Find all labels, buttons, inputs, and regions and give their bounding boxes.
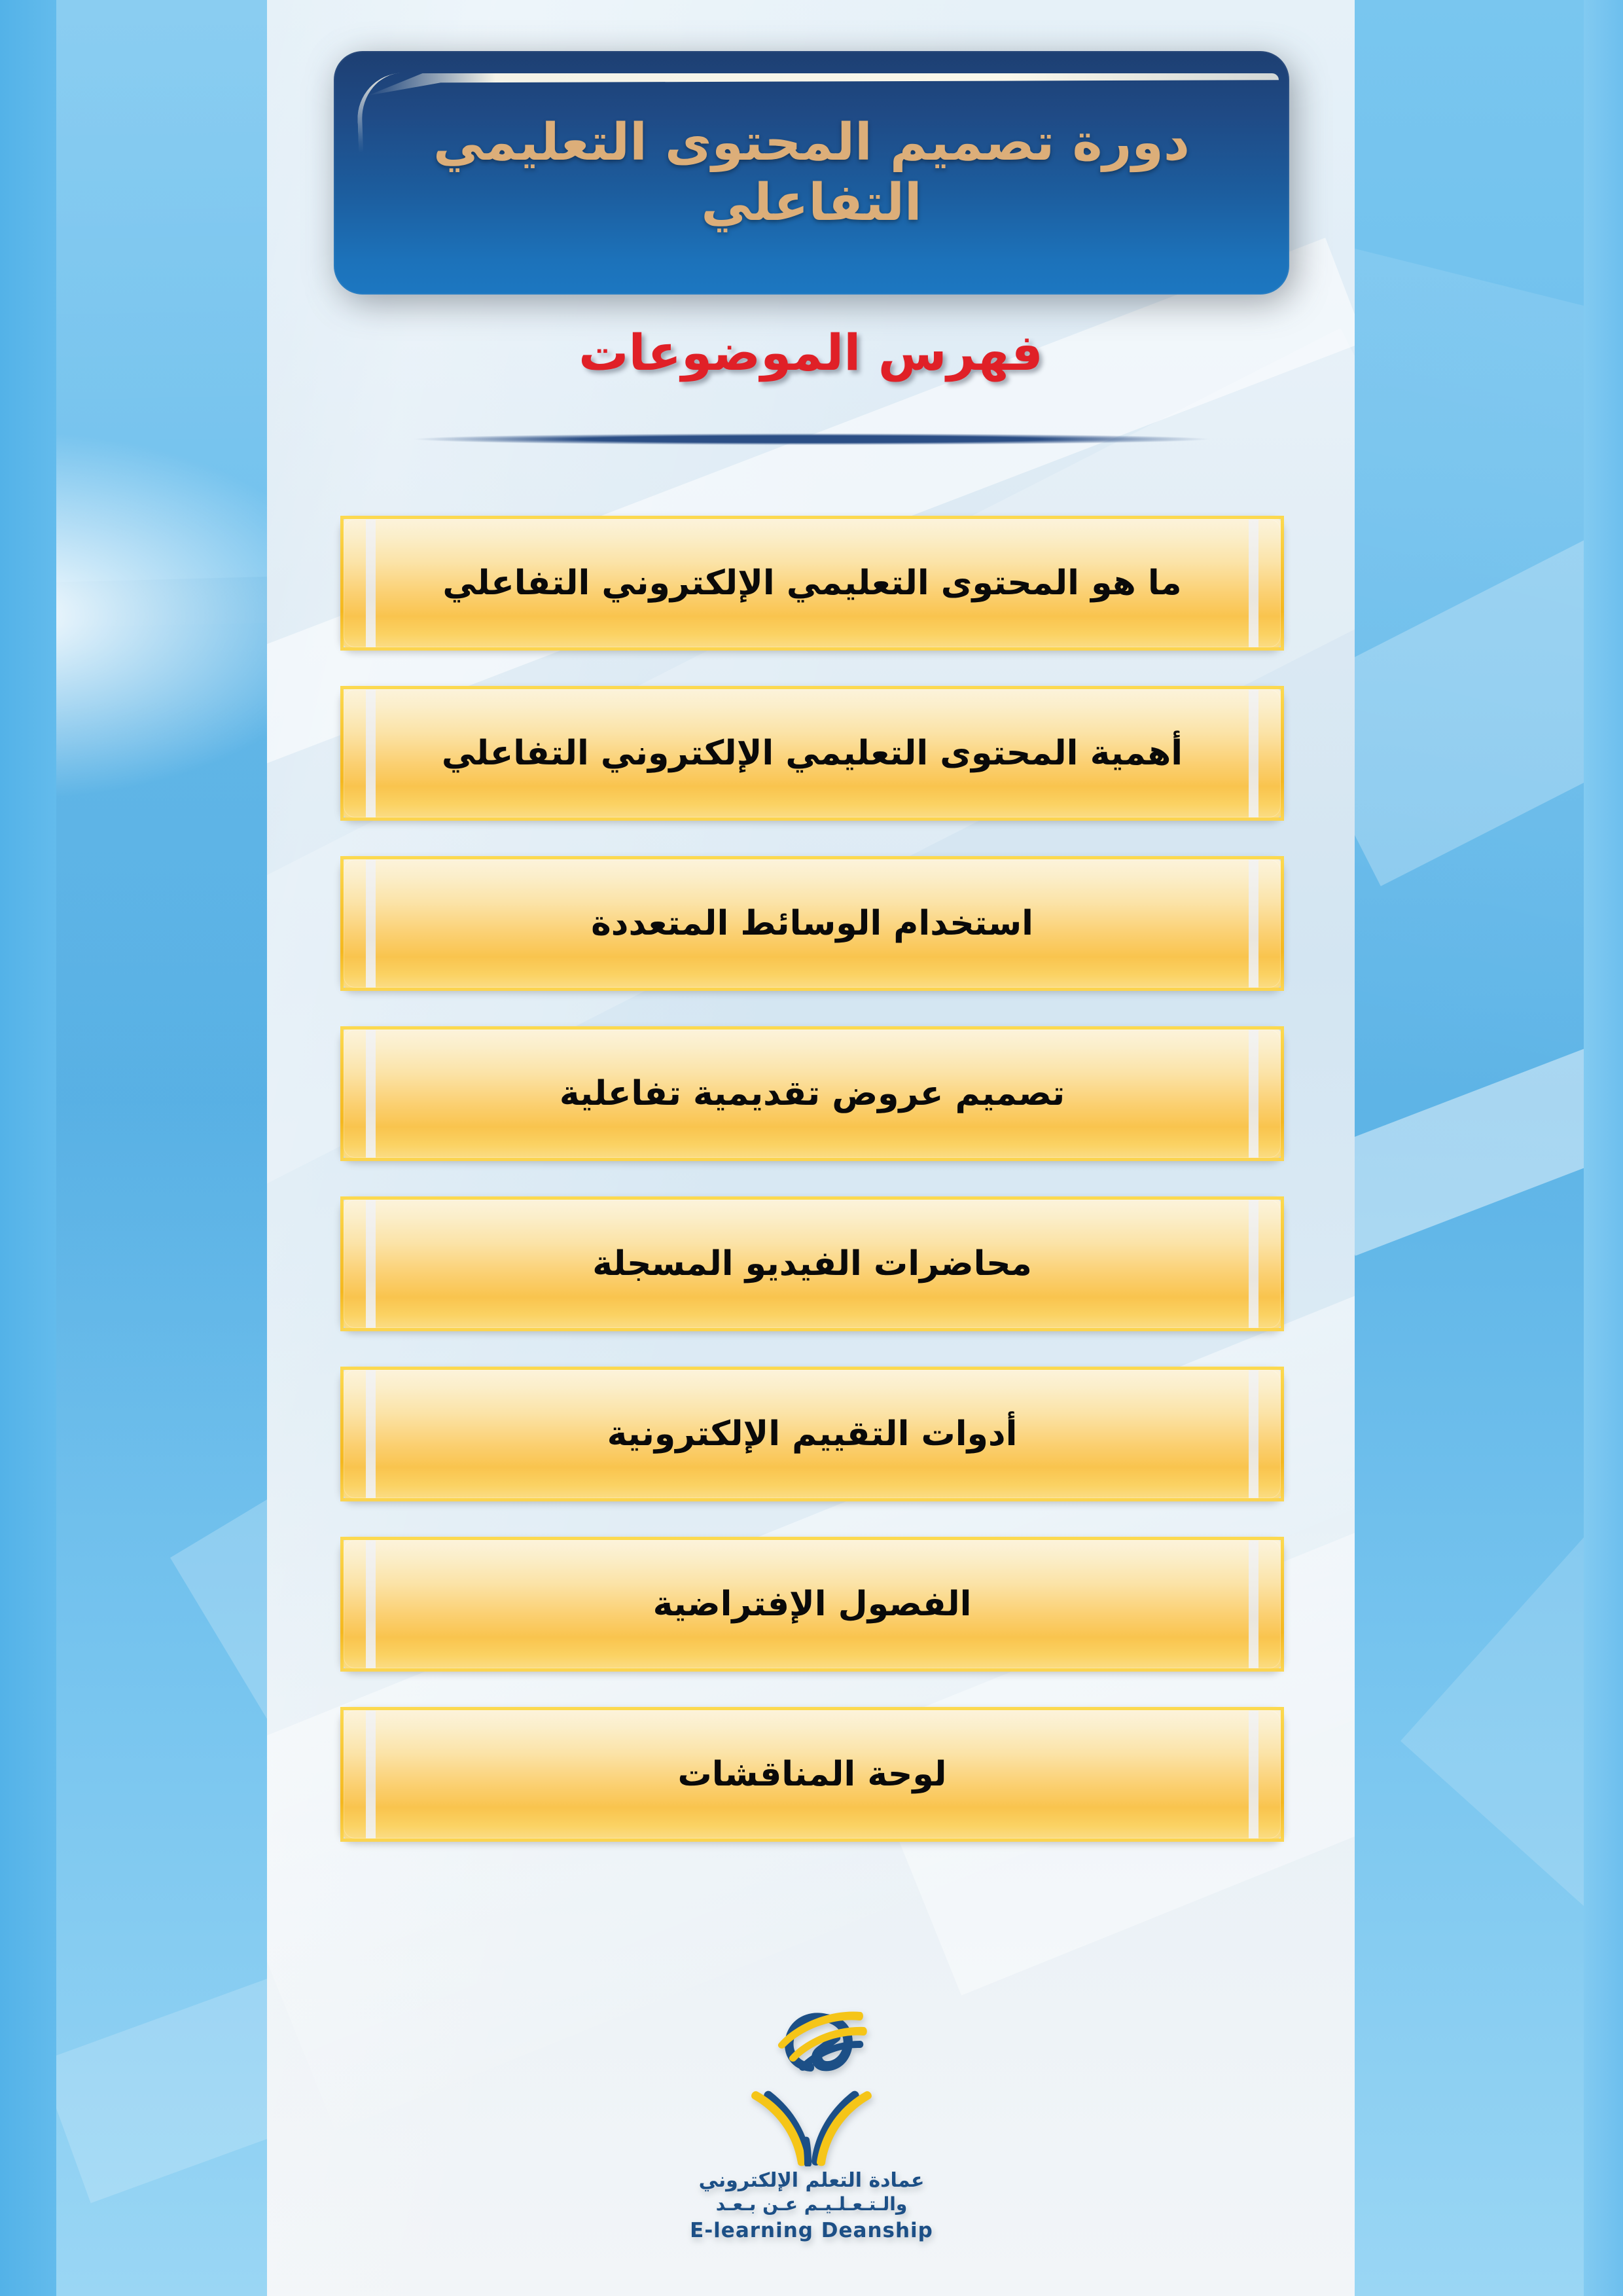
topic-card-label: أهمية المحتوى التعليمي الإلكتروني التفاع… — [383, 733, 1241, 774]
topic-card-label: محاضرات الفيديو المسجلة — [533, 1244, 1091, 1284]
topic-card-label: أدوات التقييم الإلكترونية — [548, 1414, 1077, 1454]
course-title-text: دورة تصميم المحتوى التعليمي التفاعلي — [334, 113, 1289, 233]
topic-card[interactable]: ما هو المحتوى التعليمي الإلكتروني التفاع… — [340, 516, 1284, 651]
course-title-banner: دورة تصميم المحتوى التعليمي التفاعلي — [334, 51, 1289, 295]
topic-card-label: تصميم عروض تقديمية تفاعلية — [501, 1073, 1124, 1114]
topic-card[interactable]: أدوات التقييم الإلكترونية — [340, 1367, 1284, 1501]
topic-card[interactable]: لوحة المناقشات — [340, 1707, 1284, 1842]
topic-card[interactable]: استخدام الوسائط المتعددة — [340, 856, 1284, 991]
banner-top-highlight — [368, 73, 1279, 96]
topics-list: ما هو المحتوى التعليمي الإلكتروني التفاع… — [340, 516, 1284, 1877]
topic-card[interactable]: محاضرات الفيديو المسجلة — [340, 1196, 1284, 1331]
topic-card[interactable]: تصميم عروض تقديمية تفاعلية — [340, 1026, 1284, 1161]
logo-english-name: E-learning Deanship — [690, 2219, 933, 2242]
title-divider — [414, 433, 1209, 445]
topic-card-label: الفصول الإفتراضية — [594, 1584, 1031, 1624]
page-title: فهرس الموضوعات — [267, 323, 1355, 382]
topic-card-label: لوحة المناقشات — [619, 1754, 1006, 1795]
banner-body: دورة تصميم المحتوى التعليمي التفاعلي — [334, 51, 1289, 295]
background-edge-right — [1584, 0, 1623, 2296]
deanship-logo: عمادة التعلم الإلكتروني والـتـعـلـيـم عـ… — [674, 2003, 949, 2242]
e-learning-deanship-logo-icon — [726, 2003, 897, 2166]
topic-card-label: ما هو المحتوى التعليمي الإلكتروني التفاع… — [383, 563, 1240, 603]
logo-arabic-line-1: عمادة التعلم الإلكتروني — [699, 2169, 925, 2192]
topic-card[interactable]: الفصول الإفتراضية — [340, 1537, 1284, 1672]
background-edge-left — [0, 0, 56, 2296]
logo-arabic-line-2: والـتـعـلـيـم عـن بـعـد — [716, 2193, 907, 2215]
topic-card-label: استخدام الوسائط المتعددة — [532, 903, 1092, 944]
topic-card[interactable]: أهمية المحتوى التعليمي الإلكتروني التفاع… — [340, 686, 1284, 821]
